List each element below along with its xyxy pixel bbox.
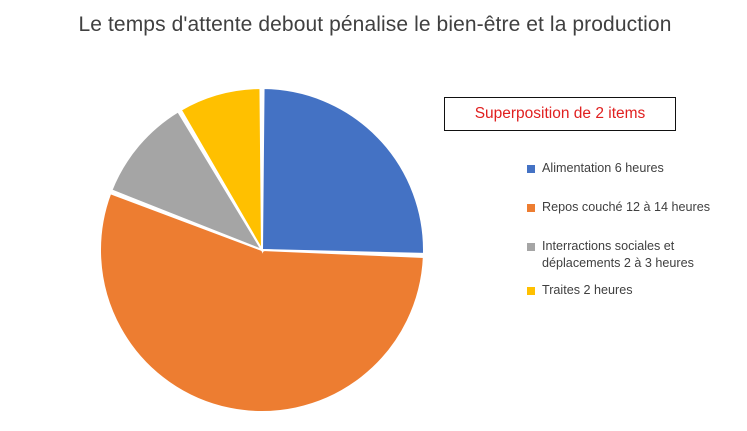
pie-slice[interactable] (262, 88, 424, 254)
chart-legend: Alimentation 6 heuresRepos couché 12 à 1… (527, 160, 747, 321)
legend-item-label: Interractions sociales et déplacements 2… (542, 238, 747, 272)
legend-swatch-icon (527, 243, 535, 251)
legend-item[interactable]: Alimentation 6 heures (527, 160, 747, 177)
pie-slice-group (100, 88, 424, 412)
legend-swatch-icon (527, 204, 535, 212)
legend-item-label: Alimentation 6 heures (542, 160, 664, 177)
pie-chart-svg (96, 84, 428, 416)
legend-item[interactable]: Repos couché 12 à 14 heures (527, 199, 747, 216)
pie-chart (96, 84, 428, 416)
legend-item-label: Traites 2 heures (542, 282, 633, 299)
legend-item[interactable]: Traites 2 heures (527, 282, 747, 299)
callout-text: Superposition de 2 items (475, 105, 646, 123)
legend-item[interactable]: Interractions sociales et déplacements 2… (527, 238, 747, 272)
callout-box: Superposition de 2 items (444, 97, 676, 131)
slide-canvas: Le temps d'attente debout pénalise le bi… (0, 0, 747, 431)
legend-swatch-icon (527, 165, 535, 173)
legend-item-label: Repos couché 12 à 14 heures (542, 199, 710, 216)
legend-swatch-icon (527, 287, 535, 295)
page-title: Le temps d'attente debout pénalise le bi… (60, 10, 690, 40)
